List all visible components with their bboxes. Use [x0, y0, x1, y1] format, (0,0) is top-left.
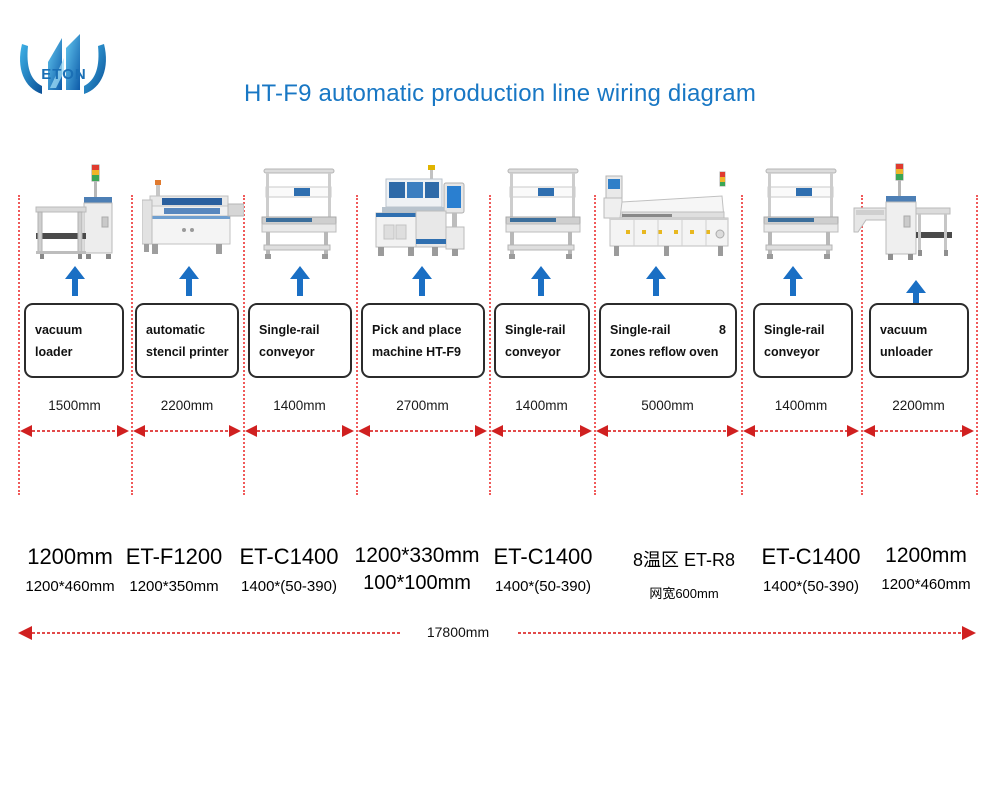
station-label-line1: Single-rail [764, 319, 842, 341]
connector-arrow-icon [645, 266, 667, 296]
spec-secondary: 1200*350mm [124, 578, 224, 595]
station-label-reflow-oven[interactable]: Single-rail 8 zones reflow oven [599, 303, 737, 378]
station-label-line2: conveyor [259, 341, 341, 363]
spec-secondary: 1200*460mm [868, 576, 984, 593]
spec-primary: 1200*330mm [352, 544, 482, 568]
station-label-vacuum-unloader[interactable]: vacuum unloader [869, 303, 969, 378]
dimension-label: 2200mm [861, 398, 976, 413]
station-label-line1: Pick and place [372, 319, 474, 341]
specification-row: 1200mm 1200*460mm ET-F1200 1200*350mm ET… [0, 536, 1000, 626]
dimension-arrow [20, 424, 129, 438]
page-header: ETON HT-F9 automatic production line wir… [0, 0, 1000, 140]
connector-arrow-icon [530, 266, 552, 296]
total-dimension-label: 17800mm [398, 624, 518, 640]
separator-line [976, 195, 978, 495]
station-label-line2: conveyor [764, 341, 842, 363]
dimension-arrow [133, 424, 241, 438]
station-label-conveyor-3[interactable]: Single-rail conveyor [753, 303, 853, 378]
spec-secondary: 1400*(50-390) [230, 578, 348, 595]
spec-primary: ET-C1400 [484, 544, 602, 570]
dimension-arrow [863, 424, 974, 438]
dimension-label: 1400mm [741, 398, 861, 413]
spec-block: 1200mm 1200*460mm [868, 544, 984, 593]
spec-block: 1200*330mm 100*100mm [352, 544, 482, 595]
station-label-conveyor-1[interactable]: Single-rail conveyor [248, 303, 352, 378]
spec-block: 8温区 ET-R8 网宽600mm [610, 546, 758, 602]
connector-arrow-icon [64, 266, 86, 296]
spec-block: ET-F1200 1200*350mm [124, 544, 224, 595]
station-label-line2: zones reflow oven [610, 341, 726, 363]
station-label-line1: Single-rail [505, 319, 579, 341]
dimension-label: 2700mm [356, 398, 489, 413]
dimension-arrow [358, 424, 487, 438]
machine-reflow-oven [598, 168, 738, 260]
dimension-label: 2200mm [131, 398, 243, 413]
machine-pick-and-place [368, 165, 478, 260]
spec-secondary: 100*100mm [352, 572, 482, 595]
dimension-arrow [596, 424, 739, 438]
connector-arrow-icon [178, 266, 200, 296]
connector-arrow-icon [289, 266, 311, 296]
dimension-arrow [491, 424, 592, 438]
station-label-zone-count: 8 [719, 319, 726, 341]
spec-secondary: 1200*460mm [22, 578, 118, 595]
station-label-line1-left: Single-rail [610, 319, 670, 341]
machine-vacuum-unloader [848, 158, 958, 260]
spec-block: ET-C1400 1400*(50-390) [484, 544, 602, 595]
separator-line [131, 195, 133, 495]
station-label-pick-and-place[interactable]: Pick and place machine HT-F9 [361, 303, 485, 378]
machine-conveyor [256, 165, 342, 260]
station-label-line2: loader [35, 341, 113, 363]
spec-block: ET-C1400 1400*(50-390) [230, 544, 348, 595]
connector-arrow-icon [782, 266, 804, 296]
dimension-label: 1400mm [489, 398, 594, 413]
spec-primary: 1200mm [868, 544, 984, 568]
station-label-line2: machine HT-F9 [372, 341, 474, 363]
separator-line [594, 195, 596, 495]
station-label-vacuum-loader[interactable]: vacuum loader [24, 303, 124, 378]
station-label-line1: Single-rail 8 [610, 319, 726, 341]
machine-stencil-printer [142, 180, 244, 260]
dimension-arrow [245, 424, 354, 438]
machine-conveyor [758, 165, 844, 260]
machine-conveyor [500, 165, 586, 260]
spec-secondary: 1400*(50-390) [484, 578, 602, 595]
dimension-label: 1400mm [243, 398, 356, 413]
dimension-label: 1500mm [18, 398, 131, 413]
station-label-line1: automatic [146, 319, 228, 341]
page-title: HT-F9 automatic production line wiring d… [0, 80, 1000, 108]
dimension-arrow [743, 424, 859, 438]
spec-primary: ET-C1400 [230, 544, 348, 570]
station-label-line2: stencil printer [146, 341, 228, 363]
spec-secondary: 网宽600mm [610, 583, 758, 602]
station-label-stencil-printer[interactable]: automatic stencil printer [135, 303, 239, 378]
spec-primary: ET-C1400 [752, 544, 870, 570]
station-label-line1: vacuum [35, 319, 113, 341]
spec-secondary: 1400*(50-390) [752, 578, 870, 595]
separator-line [18, 195, 20, 495]
production-line-diagram: vacuum loader automatic stencil printer … [0, 140, 1000, 515]
station-label-line1: Single-rail [259, 319, 341, 341]
separator-line [356, 195, 358, 495]
station-label-line2: unloader [880, 341, 958, 363]
separator-line [489, 195, 491, 495]
spec-primary: ET-F1200 [124, 544, 224, 570]
spec-primary: 1200mm [22, 544, 118, 570]
dimension-label: 5000mm [594, 398, 741, 413]
machine-vacuum-loader [24, 155, 124, 260]
spec-primary: 8温区 ET-R8 [610, 546, 758, 572]
station-label-line2: conveyor [505, 341, 579, 363]
spec-block: ET-C1400 1400*(50-390) [752, 544, 870, 595]
connector-arrow-icon [411, 266, 433, 296]
separator-line [741, 195, 743, 495]
station-label-line1: vacuum [880, 319, 958, 341]
spec-block: 1200mm 1200*460mm [22, 544, 118, 595]
station-label-conveyor-2[interactable]: Single-rail conveyor [494, 303, 590, 378]
